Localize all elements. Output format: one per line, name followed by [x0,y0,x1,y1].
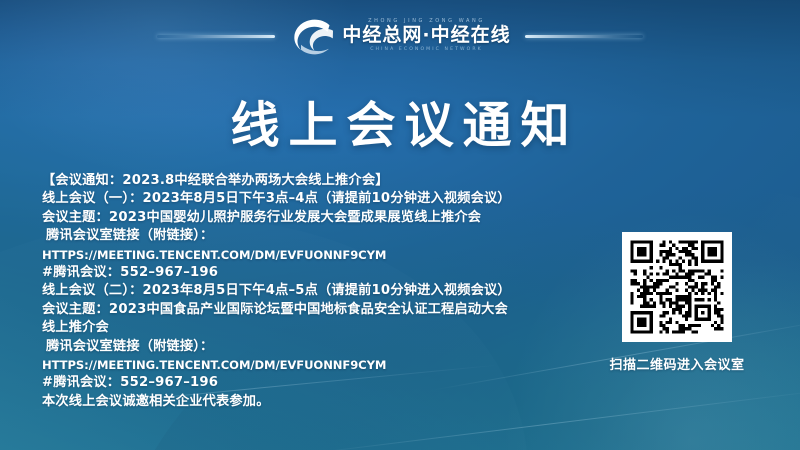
poster-header: ZHONG JING ZONG WANG 中经总网·中经在线 CHINA ECO… [0,0,800,72]
notice-line-meeting2-topic2: 线上推介会 [42,319,622,337]
qr-code-icon[interactable] [622,232,732,342]
brand-pinyin-bottom: CHINA ECONOMIC NETWORK [370,48,483,53]
notice-line-meeting2-topic: 会议主题：2023中国食品产业国际论坛暨中国地标食品安全认证工程启动大会 [42,301,622,319]
header-divider-left [157,35,275,38]
notice-line-meeting1-time: 线上会议（一）：2023年8月5日下午3点–4点（请提前10分钟进入视频会议） [42,190,622,208]
brand-logo-wordmark: ZHONG JING ZONG WANG 中经总网·中经在线 CHINA ECO… [342,19,510,53]
qr-code-modules [622,232,732,342]
brand-logo: ZHONG JING ZONG WANG 中经总网·中经在线 CHINA ECO… [289,16,510,56]
notice-body: 【会议通知：2023.8中经联合举办两场大会线上推介会】线上会议（一）：2023… [42,172,622,411]
page-title: 线上会议通知 [0,86,800,157]
notice-line-meeting1-topic: 会议主题：2023中国婴幼儿照护服务行业发展大会暨成果展览线上推介会 [42,209,622,227]
notice-line-meeting2-time: 线上会议（二）：2023年8月5日下午4点–5点（请提前10分钟进入视频会议） [42,282,622,300]
meeting-notice-poster: ZHONG JING ZONG WANG 中经总网·中经在线 CHINA ECO… [0,0,800,450]
c-swoosh-logo-icon [289,16,335,56]
qr-section: 扫描二维码进入会议室 [622,232,732,373]
notice-line-meeting1-id: #腾讯会议：552–967–196 [42,264,622,282]
brand-name: 中经总网·中经在线 [342,26,510,45]
notice-line-closing: 本次线上会议诚邀相关企业代表参加。 [42,393,622,411]
notice-line-meeting2-link-label: 腾讯会议室链接（附链接）： [42,338,622,356]
notice-line-meeting1-url[interactable]: HTTPS://MEETING.TENCENT.COM/DM/EVFUONNF9… [42,246,622,264]
notice-line-notice-headline: 【会议通知：2023.8中经联合举办两场大会线上推介会】 [42,172,622,190]
notice-line-meeting2-id: #腾讯会议：552–967–196 [42,374,622,392]
qr-caption: 扫描二维码进入会议室 [600,354,754,373]
notice-line-meeting1-link-label: 腾讯会议室链接（附链接）： [42,227,622,245]
notice-line-meeting2-url[interactable]: HTTPS://MEETING.TENCENT.COM/DM/EVFUONNF9… [42,356,622,374]
header-divider-right [525,35,643,38]
